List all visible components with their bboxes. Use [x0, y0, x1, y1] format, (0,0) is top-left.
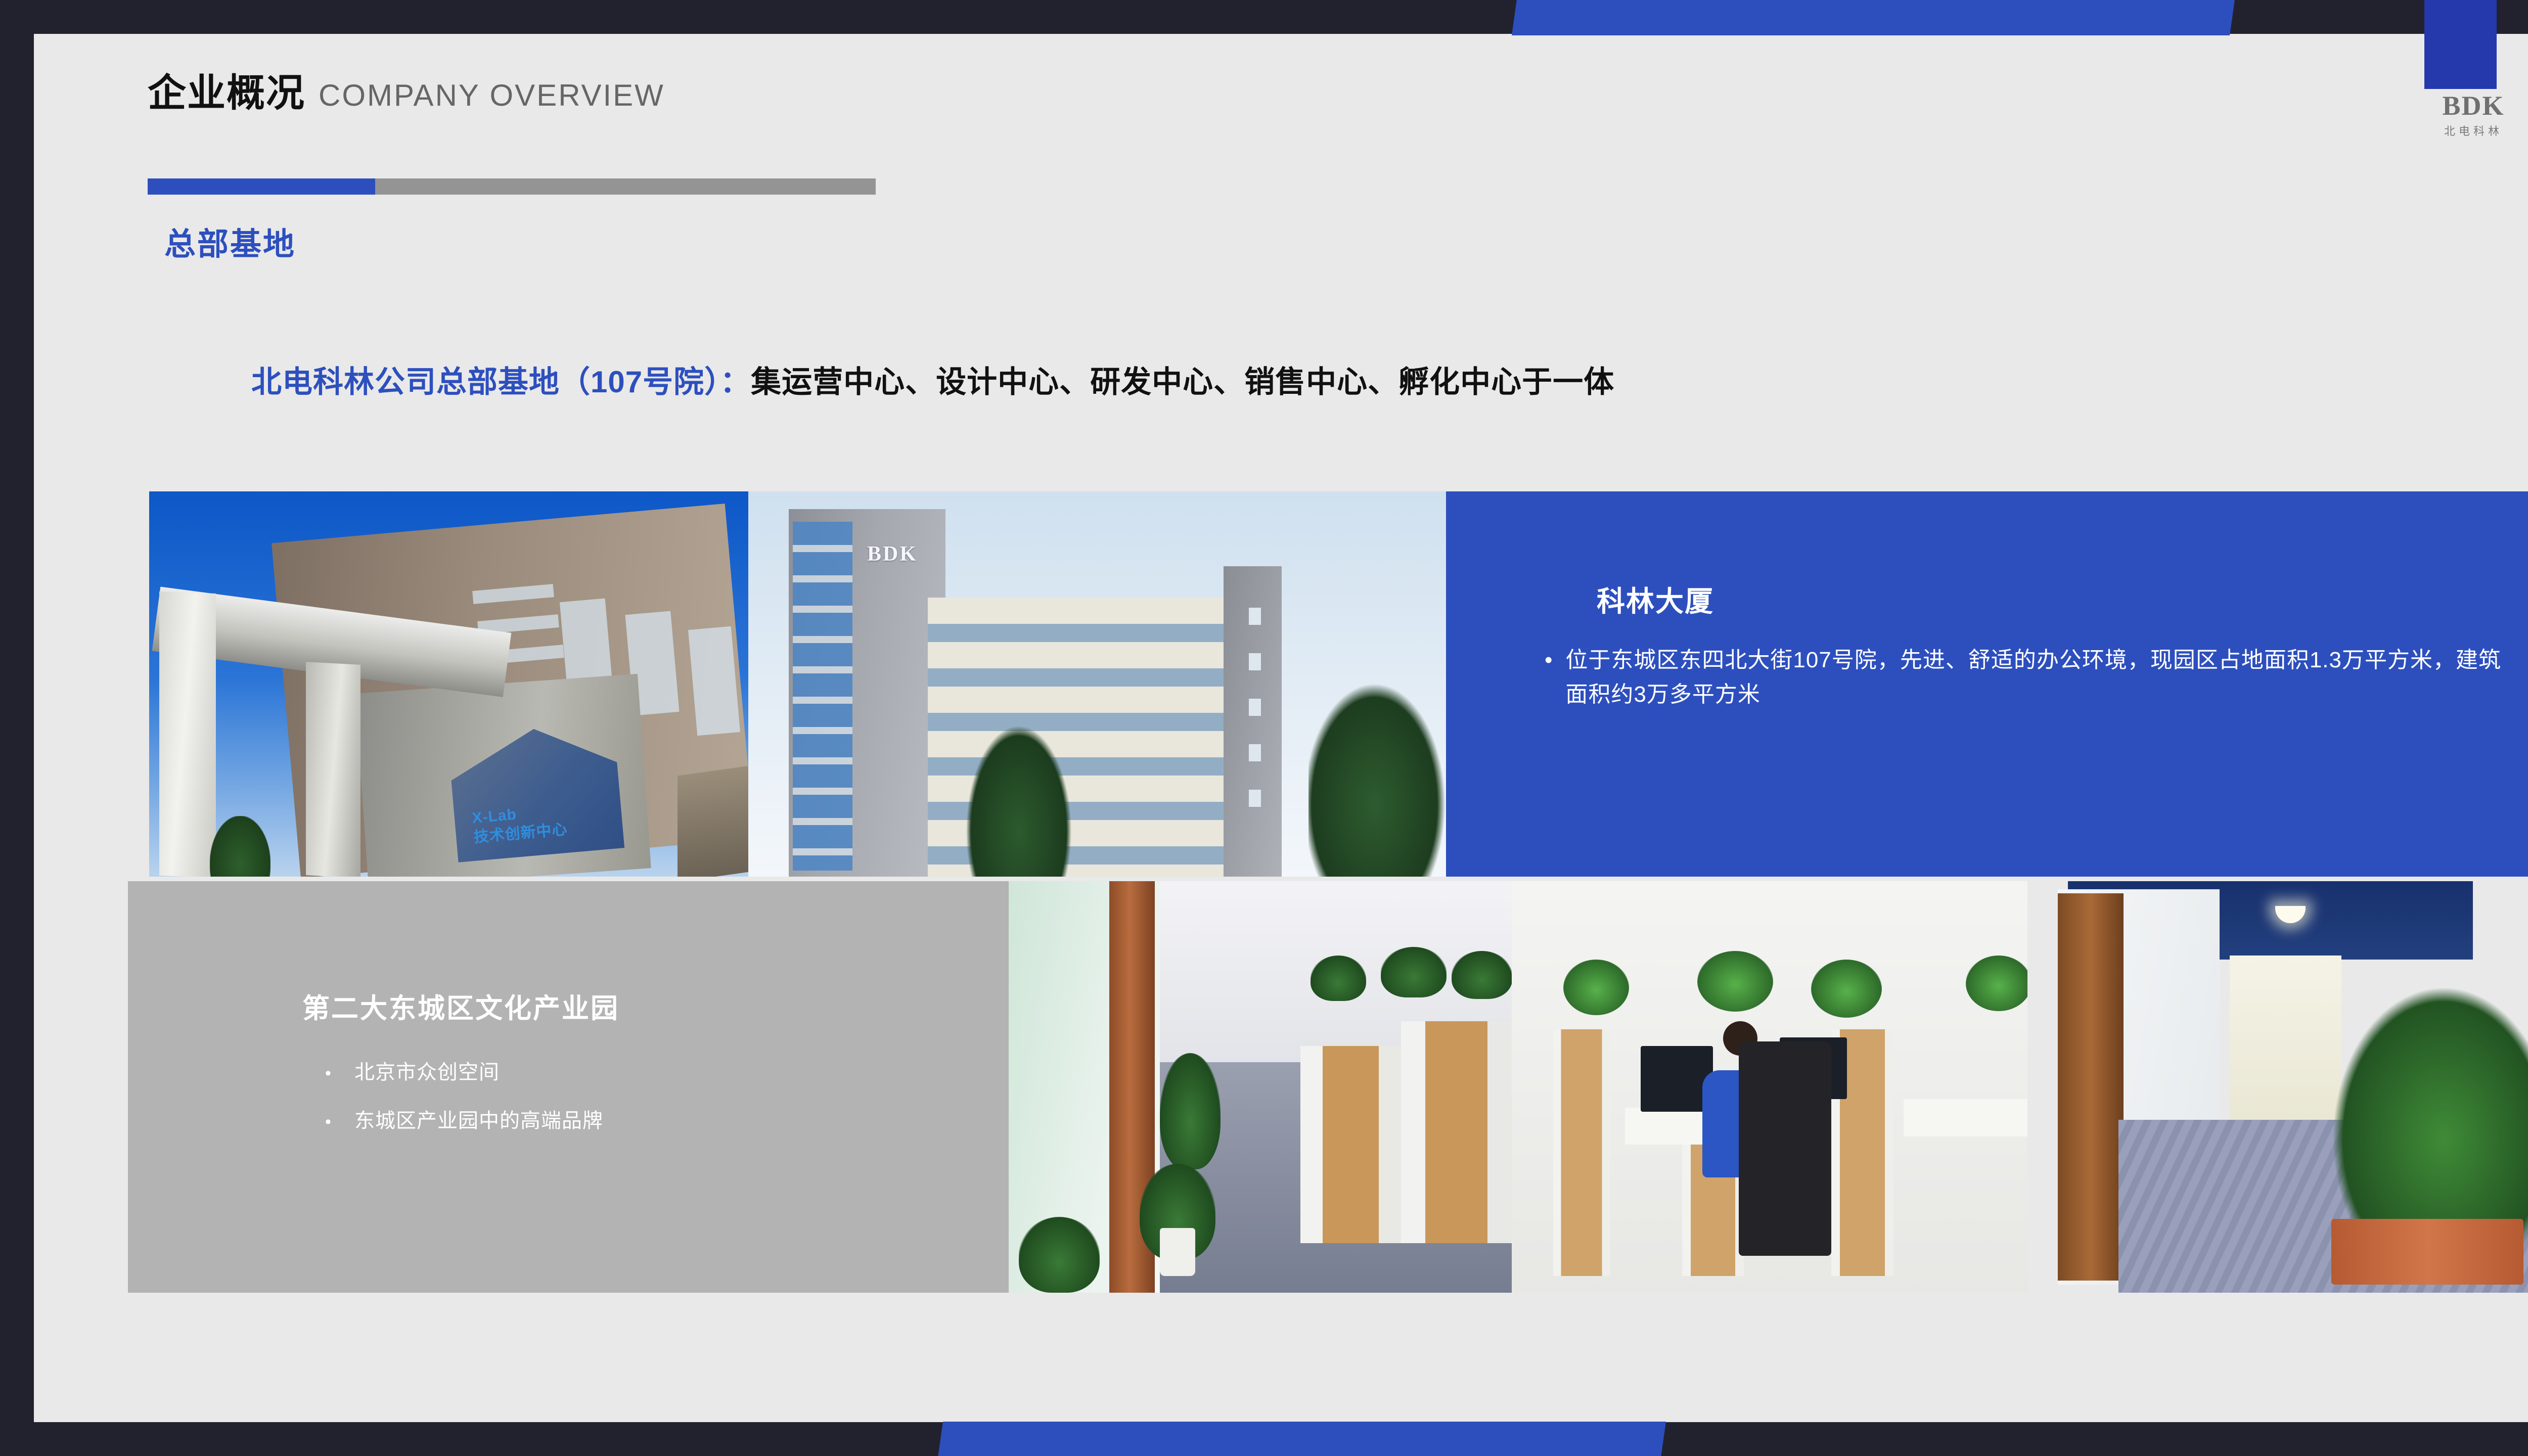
- title-rule-blue-segment: [148, 178, 375, 195]
- gateway-tree: [210, 816, 270, 877]
- photo-campus-gateway: X-Lab 技术创新中心: [149, 491, 748, 877]
- logo-blue-tab: [2424, 0, 2497, 89]
- bdk-logo: BDK 北电科林: [2425, 92, 2521, 139]
- title-rule-grey-segment: [375, 178, 876, 195]
- bdk-glass-curtain: [793, 522, 852, 871]
- kelin-building-description: 位于东城区东四北大街107号院，先进、舒适的办公环境，现园区占地面积1.3万平方…: [1565, 643, 2515, 712]
- page-title: 企业概况 COMPANY OVERVIEW: [148, 74, 665, 113]
- bullet-marker-icon: •: [1545, 643, 1552, 712]
- bottom-blue-accent-shape: [938, 1422, 1666, 1456]
- bdk-facade-sign: BDK: [867, 542, 918, 566]
- kelin-building-bullet: • 位于东城区东四北大街107号院，先进、舒适的办公环境，现园区占地面积1.3万…: [1545, 643, 2515, 712]
- culture-park-item-label: 北京市众创空间: [354, 1056, 500, 1085]
- culture-park-title: 第二大东城区文化产业园: [302, 986, 619, 1026]
- bottom-media-row: 第二大东城区文化产业园 • 北京市众创空间 • 东城区产业园中的高端品牌: [128, 881, 2528, 1293]
- bdk-logo-name: 北电科林: [2425, 122, 2521, 139]
- culture-park-panel: 第二大东城区文化产业园 • 北京市众创空间 • 东城区产业园中的高端品牌: [128, 881, 1009, 1293]
- top-media-row: X-Lab 技术创新中心 BDK 科林大厦: [149, 491, 2528, 877]
- list-item: • 北京市众创空间: [325, 1056, 603, 1085]
- office-chair: [1739, 1041, 1832, 1255]
- kelin-building-panel: 科林大厦 • 位于东城区东四北大街107号院，先进、舒适的办公环境，现园区占地面…: [1446, 491, 2528, 877]
- bullet-marker-icon: •: [325, 1112, 354, 1132]
- bdk-foreground-tree: [961, 715, 1077, 877]
- lead-rest: 集运营中心、设计中心、研发中心、销售中心、孵化中心于一体: [751, 365, 1614, 399]
- traditional-roof: [678, 765, 748, 877]
- list-item: • 东城区产业园中的高端品牌: [325, 1104, 603, 1133]
- bdk-logo-mark: BDK: [2425, 92, 2521, 119]
- culture-park-list: • 北京市众创空间 • 东城区产业园中的高端品牌: [325, 1056, 603, 1153]
- corridor-wood-door: [2058, 893, 2124, 1280]
- page-title-english: COMPANY OVERVIEW: [319, 80, 665, 111]
- gateway-pillar: [159, 591, 216, 877]
- photo-bdk-building: BDK: [748, 491, 1446, 877]
- lead-highlight: 北电科林公司总部基地（107号院）：: [251, 365, 751, 399]
- culture-park-item-label: 东城区产业园中的高端品牌: [354, 1104, 603, 1133]
- kelin-building-title: 科林大厦: [1597, 579, 1714, 620]
- lead-statement: 北电科林公司总部基地（107号院）：集运营中心、设计中心、研发中心、销售中心、孵…: [251, 357, 1614, 401]
- bdk-side-tree: [1308, 667, 1446, 877]
- bullet-marker-icon: •: [325, 1064, 354, 1083]
- photo-corridor: [2027, 881, 2528, 1293]
- photo-open-plan-office: [1512, 881, 2027, 1293]
- title-rule: [148, 178, 876, 195]
- gateway-column: [306, 662, 360, 877]
- corridor-planters: [2331, 1219, 2523, 1285]
- page-title-chinese: 企业概况: [148, 74, 305, 113]
- section-subheading: 总部基地: [164, 218, 296, 264]
- slide-canvas: 企业概况 COMPANY OVERVIEW 总部基地 北电科林公司总部基地（10…: [34, 34, 2528, 1422]
- photo-office-hallway: [1009, 881, 1512, 1293]
- top-blue-accent-shape: [1512, 0, 2235, 35]
